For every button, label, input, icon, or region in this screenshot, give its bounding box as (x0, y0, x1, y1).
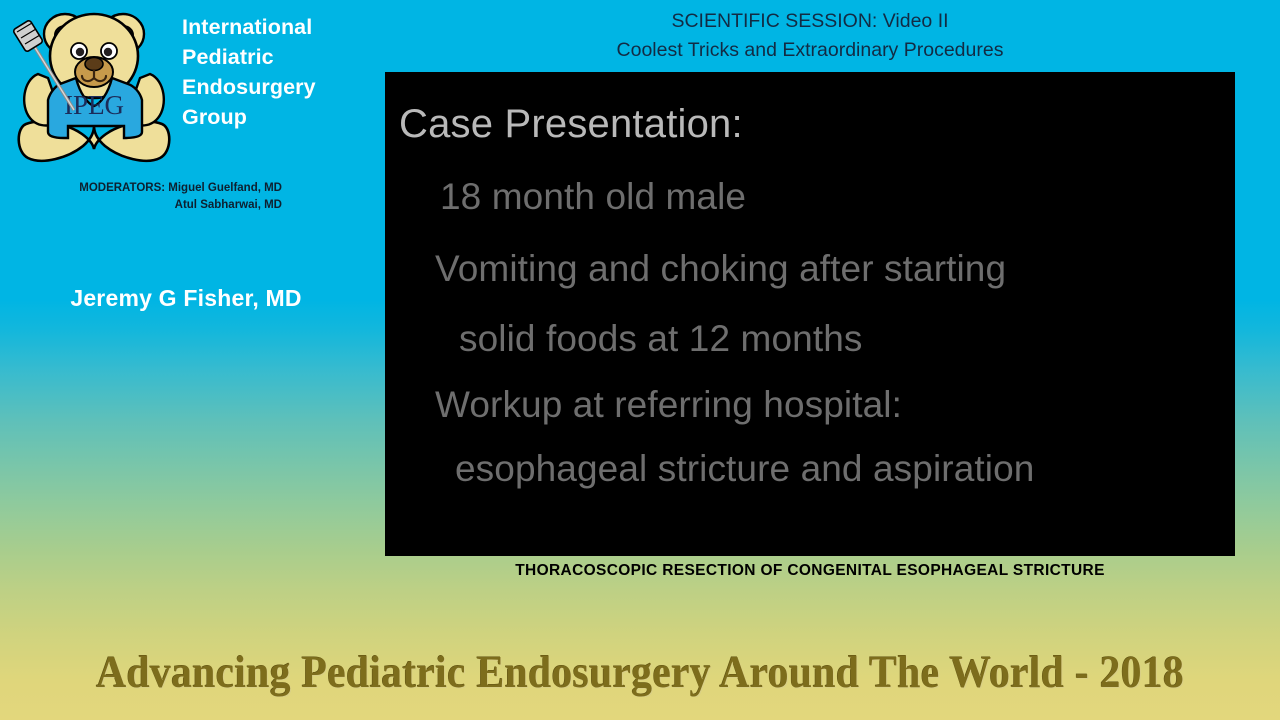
slide-bullet-line: solid foods at 12 months (459, 318, 862, 360)
org-name-line: Group (182, 102, 378, 132)
session-subtitle-line: Coolest Tricks and Extraordinary Procedu… (380, 36, 1240, 65)
session-header: SCIENTIFIC SESSION: Video II Coolest Tri… (380, 7, 1240, 65)
presenter-name: Jeremy G Fisher, MD (0, 285, 372, 312)
org-name: International Pediatric Endosurgery Grou… (182, 12, 378, 132)
slide-bullet-line: esophageal stricture and aspiration (455, 448, 1034, 490)
org-name-line: International (182, 12, 378, 42)
footer-tagline: Advancing Pediatric Endosurgery Around T… (45, 646, 1235, 698)
org-name-line: Pediatric (182, 42, 378, 72)
slide-bullet-line: 18 month old male (440, 176, 746, 218)
video-player-panel[interactable]: Case Presentation: 18 month old male Vom… (385, 72, 1235, 556)
ipeg-teddy-bear-logo: IPEG (8, 6, 180, 176)
session-title-line: SCIENTIFIC SESSION: Video II (380, 7, 1240, 36)
video-caption: THORACOSCOPIC RESECTION OF CONGENITAL ES… (385, 562, 1235, 580)
ipeg-logo-block: IPEG International Pediatric Endosurgery… (0, 0, 380, 180)
moderator-line: MODERATORS: Miguel Guelfand, MD (0, 180, 282, 197)
slide-heading: Case Presentation: (399, 102, 743, 147)
moderators-block: MODERATORS: Miguel Guelfand, MD Atul Sab… (0, 180, 300, 214)
org-name-line: Endosurgery (182, 72, 378, 102)
slide-bullet-line: Workup at referring hospital: (435, 384, 902, 426)
shirt-logo-text: IPEG (64, 90, 124, 120)
presentation-slide: Case Presentation: 18 month old male Vom… (385, 72, 1235, 556)
moderator-line: Atul Sabharwai, MD (0, 197, 282, 214)
slide-bullet-line: Vomiting and choking after starting (435, 248, 1006, 290)
slide-frame: IPEG International Pediatric Endosurgery… (0, 0, 1280, 720)
